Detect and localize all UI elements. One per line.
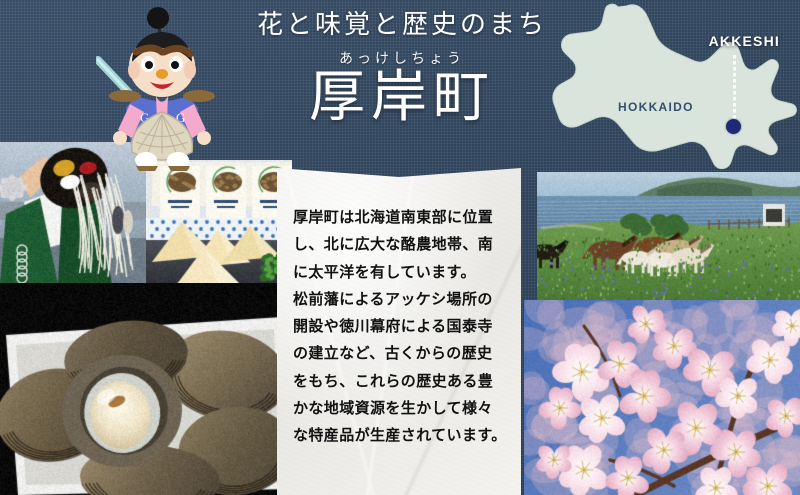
- photo-horses-coastal-pasture: [537, 172, 800, 300]
- mascot-character: G G: [96, 4, 228, 176]
- title-block: 花と味覚と歴史のまち あっけしちょう 厚岸町: [212, 10, 592, 126]
- poster-tagline: 花と味覚と歴史のまち: [212, 10, 592, 40]
- description-panel: 厚岸町は北海道南東部に位置し、北に広大な酪農地帯、南に太平洋を有しています。 松…: [277, 168, 521, 495]
- town-name-title: 厚岸町: [212, 70, 592, 126]
- town-name-furigana: あっけしちょう: [212, 48, 592, 68]
- map-marker-label: AKKESHI: [709, 33, 780, 49]
- photo-oysters-in-tray: [0, 283, 292, 495]
- poster-canvas: HOKKAIDO AKKESHI: [0, 0, 800, 495]
- photo-cheese-wedges: [146, 160, 292, 284]
- mascot-svg: G G: [96, 4, 228, 176]
- map-location-dot-icon: [726, 119, 741, 134]
- map-leader-line-icon: [733, 55, 736, 122]
- description-text: 厚岸町は北海道南東部に位置し、北に広大な酪農地帯、南に太平洋を有しています。 松…: [277, 168, 521, 450]
- photo-cherry-blossoms: [524, 300, 800, 495]
- map-region-label: HOKKAIDO: [618, 100, 694, 114]
- description-paragraph-2: 松前藩によるアッケシ場所の開設や徳川幕府による国泰寺の建立など、古くからの歴史を…: [293, 286, 507, 450]
- description-paragraph-1: 厚岸町は北海道南東部に位置し、北に広大な酪農地帯、南に太平洋を有しています。: [293, 204, 507, 286]
